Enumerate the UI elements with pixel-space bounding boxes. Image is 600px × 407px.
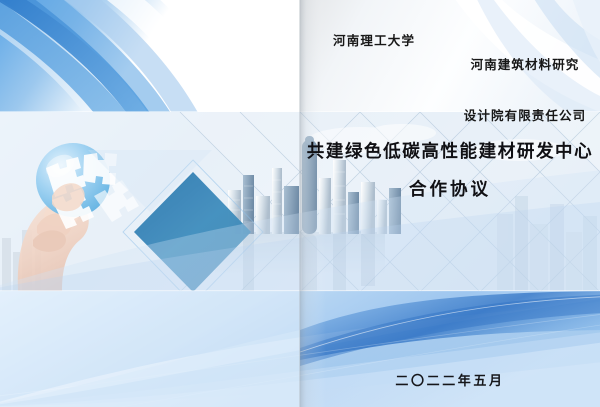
page-title: 共建绿色低碳高性能建材研发中心 (300, 138, 600, 163)
page-subtitle: 合作协议 (300, 176, 600, 201)
brochure-cover: 河南理工大学 河南建筑材料研究 设计院有限责任公司 共建绿色低碳高性能建材研发中… (0, 0, 600, 407)
organization-right-line2: 设计院有限责任公司 (460, 108, 590, 125)
organization-right-line1: 河南建筑材料研究 (460, 57, 590, 74)
organization-left: 河南理工大学 (333, 30, 415, 49)
fold-seam (299, 0, 326, 407)
publication-date: 二〇二二年五月 (300, 370, 600, 389)
